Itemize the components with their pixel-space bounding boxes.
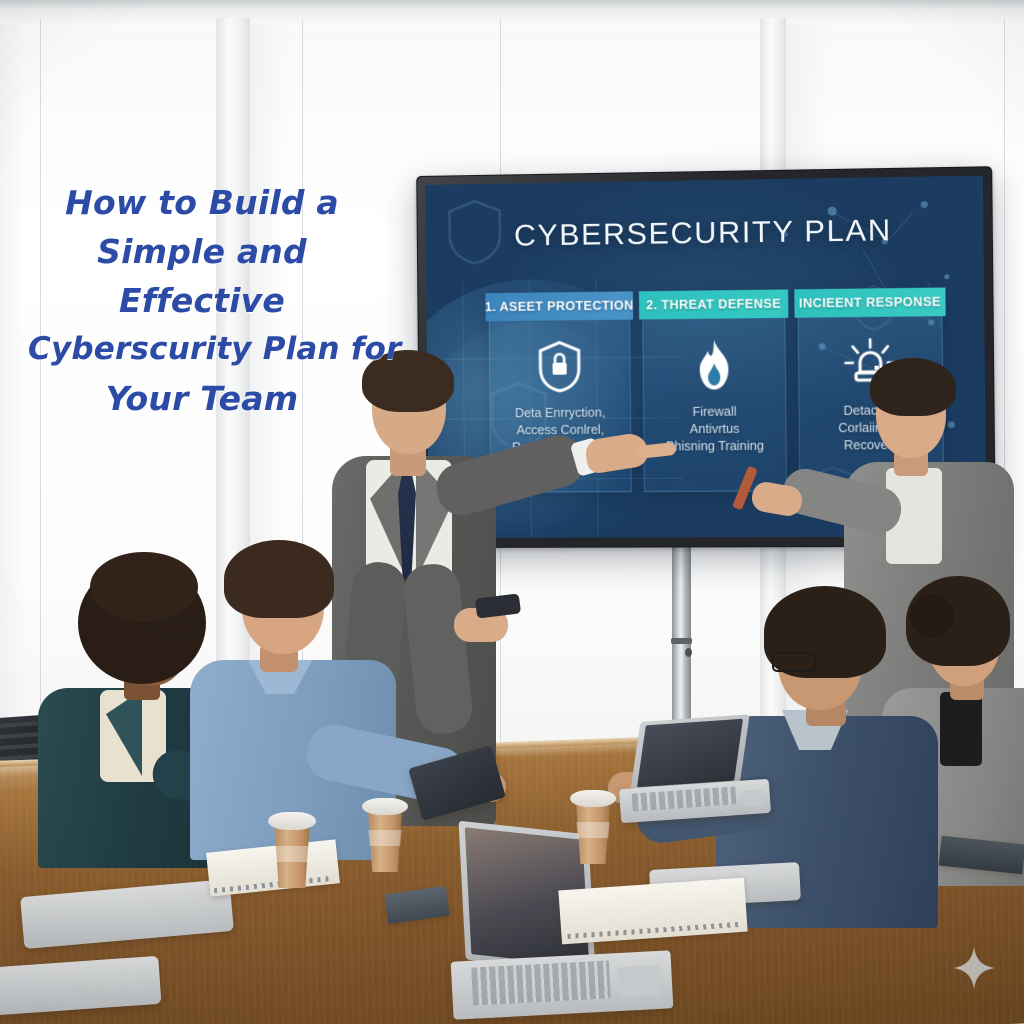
headline-line: Simple and bbox=[28, 227, 376, 276]
coffee-cup-center[interactable] bbox=[570, 790, 616, 864]
flame-icon bbox=[643, 338, 785, 392]
eyeglasses-icon bbox=[772, 652, 816, 672]
headline-line: Effective bbox=[28, 276, 376, 325]
tv-stand-knob bbox=[685, 648, 692, 657]
laptop-right-seated[interactable] bbox=[620, 722, 770, 832]
card-body-line: Firewall bbox=[650, 403, 779, 421]
man-left-hair bbox=[224, 540, 334, 618]
laptop-closed-left[interactable] bbox=[22, 888, 232, 958]
tv-stand-joint bbox=[671, 638, 692, 644]
ceiling-panel bbox=[0, 12, 1024, 28]
page-title: How to Build a Simple and Effective Cybe… bbox=[28, 178, 376, 423]
coffee-cup-left[interactable] bbox=[268, 812, 316, 888]
card-header-label: INCIEENT RESPONSE bbox=[794, 287, 945, 317]
headline-line: How to Build a bbox=[28, 178, 376, 227]
headline-line: Cyberscurity Plan for bbox=[28, 325, 376, 374]
laptop-closed-left-2[interactable] bbox=[0, 962, 160, 1024]
card-body-line: Antivrtus bbox=[650, 420, 779, 438]
coffee-cup-center-left[interactable] bbox=[362, 798, 408, 872]
card-header-label: 1. ASEET PROTECTION bbox=[485, 291, 633, 321]
four-point-sparkle-icon bbox=[952, 946, 996, 990]
presentation-clicker[interactable] bbox=[475, 593, 521, 618]
headline-line: Your Team bbox=[28, 374, 376, 423]
card-header-label: 2. THREAT DEFENSE bbox=[639, 289, 789, 319]
screenshot-canvas: How to Build a Simple and Effective Cybe… bbox=[0, 0, 1024, 1024]
woman-left-hair-top bbox=[90, 552, 198, 622]
slide-card-threat-defense[interactable]: 2. THREAT DEFENSE Firewall Antivrtus Phi… bbox=[642, 290, 787, 492]
standing-right-hair bbox=[870, 358, 956, 416]
